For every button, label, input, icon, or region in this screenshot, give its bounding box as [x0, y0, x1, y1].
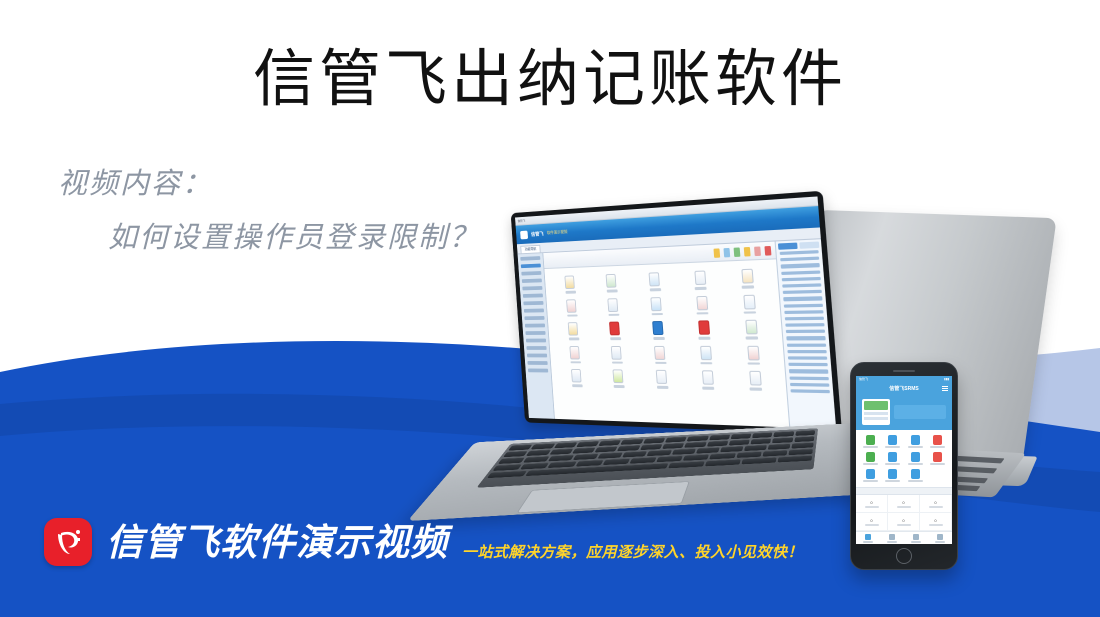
phone-screen: 信管飞 ▮▮▮ 信管飞SRMS	[856, 376, 952, 544]
grid-item[interactable]	[729, 319, 775, 339]
phone-stat-value: 0	[902, 518, 904, 523]
xinguanfei-bird-logo-icon	[44, 518, 92, 566]
grid-item[interactable]	[554, 322, 593, 340]
grid-item[interactable]	[680, 295, 724, 315]
toolbar-key-icon[interactable]	[754, 246, 761, 256]
phone-stat-cell: 0	[888, 513, 920, 531]
grid-item[interactable]	[557, 369, 596, 387]
phone-banner-caption	[894, 405, 946, 419]
phone-stat-cell: 0	[856, 495, 888, 513]
phone-grid-item[interactable]	[860, 469, 881, 482]
grid-item[interactable]	[597, 345, 637, 363]
grid-item[interactable]	[733, 371, 779, 391]
app-tab-navigation[interactable]: 功能导航	[520, 245, 540, 253]
smartphone: 信管飞 ▮▮▮ 信管飞SRMS	[850, 362, 958, 570]
grid-item[interactable]	[678, 270, 722, 290]
phone-grid-item[interactable]	[905, 469, 926, 482]
laptop-lid: 信管飞 信管飞 软件演示视频 功能导航	[511, 191, 843, 435]
toolbar-user-icon[interactable]	[713, 248, 720, 257]
phone-stat-cell: 0	[920, 495, 952, 513]
phone-app-title: 信管飞SRMS	[889, 385, 918, 392]
phone-stat-cell: 0	[888, 495, 920, 513]
grid-item[interactable]	[598, 369, 638, 388]
laptop-keyboard[interactable]	[477, 428, 819, 487]
grid-item[interactable]	[638, 321, 680, 340]
grid-item[interactable]	[682, 320, 726, 339]
phone-promo-banner[interactable]	[856, 394, 952, 430]
app-window-title: 信管飞	[518, 219, 526, 223]
phone-banner-thumbnail	[862, 399, 890, 425]
laptop-screen: 信管飞 信管飞 软件演示视频 功能导航	[515, 196, 836, 429]
slide-canvas: 信管飞出纳记账软件 视频内容： 如何设置操作员登录限制？ 信管飞	[0, 0, 1100, 617]
footer-tagline: 一站式解决方案，应用逐步深入、投入小见效快！	[462, 541, 803, 562]
phone-nav-mine[interactable]	[928, 532, 952, 544]
grid-item[interactable]	[725, 268, 771, 289]
grid-item[interactable]	[595, 321, 635, 339]
right-panel-tab-recent[interactable]	[799, 241, 819, 248]
grid-item[interactable]	[684, 345, 728, 364]
phone-grid-item[interactable]	[883, 452, 904, 465]
grid-item[interactable]	[551, 275, 590, 294]
phone-grid-item[interactable]	[905, 435, 926, 448]
phone-stat-value: 0	[902, 500, 904, 505]
grid-item[interactable]	[636, 296, 678, 315]
grid-item[interactable]	[556, 346, 595, 364]
grid-item[interactable]	[686, 370, 730, 390]
app-logo-icon	[520, 230, 528, 239]
app-body	[518, 239, 837, 429]
footer-brand-name: 信管飞软件演示视频	[106, 524, 448, 561]
toolbar-export-icon[interactable]	[734, 247, 741, 257]
hamburger-icon[interactable]	[942, 386, 948, 391]
phone-function-grid[interactable]	[856, 430, 952, 487]
app-main-panel	[543, 242, 789, 430]
device-showcase: 信管飞 信管飞 软件演示视频 功能导航	[430, 196, 1100, 556]
phone-app-header: 信管飞SRMS	[856, 382, 952, 394]
right-panel-tab-common[interactable]	[778, 243, 798, 250]
phone-bottom-nav[interactable]	[856, 531, 952, 544]
toolbar-print-icon[interactable]	[723, 247, 730, 257]
grid-item[interactable]	[731, 345, 777, 364]
phone-stat-value: 0	[870, 500, 872, 505]
phone-status-icons: ▮▮▮	[944, 377, 949, 381]
phone-grid-item[interactable]	[883, 435, 904, 448]
subtitle-question: 如何设置操作员登录限制？	[108, 214, 480, 256]
phone-nav-report[interactable]	[904, 532, 928, 544]
phone-section-divider	[856, 487, 952, 495]
app-brand-label: 信管飞	[531, 230, 544, 237]
phone-speaker	[893, 370, 915, 372]
phone-nav-business[interactable]	[880, 532, 904, 544]
grid-item[interactable]	[552, 298, 591, 316]
footer-brand-row: 信管飞软件演示视频 一站式解决方案，应用逐步深入、投入小见效快！	[44, 518, 803, 566]
phone-grid-item[interactable]	[860, 452, 881, 465]
phone-stat-value: 0	[934, 518, 936, 523]
open-laptop: 信管飞 信管飞 软件演示视频 功能导航	[430, 196, 900, 526]
grid-item[interactable]	[641, 370, 683, 389]
grid-item[interactable]	[592, 273, 632, 292]
subtitle-block: 视频内容： 如何设置操作员登录限制？	[58, 160, 480, 256]
laptop-trackpad[interactable]	[516, 481, 689, 513]
app-header-tagline: 软件演示视频	[547, 229, 568, 236]
subtitle-label: 视频内容：	[58, 160, 480, 202]
phone-stats-grid: 0 0 0 0 0 0	[856, 495, 952, 531]
phone-stat-cell: 0	[856, 513, 888, 531]
toolbar-lock-icon[interactable]	[744, 246, 751, 256]
grid-item[interactable]	[593, 297, 633, 316]
toolbar-exit-icon[interactable]	[764, 245, 771, 255]
phone-grid-item	[928, 469, 949, 482]
phone-grid-item[interactable]	[928, 435, 949, 448]
phone-home-button[interactable]	[896, 548, 912, 564]
grid-item[interactable]	[727, 294, 773, 314]
grid-item[interactable]	[634, 272, 676, 292]
grid-item[interactable]	[639, 345, 681, 364]
phone-stat-value: 0	[934, 500, 936, 505]
phone-nav-home[interactable]	[856, 532, 880, 544]
page-title: 信管飞出纳记账软件	[0, 46, 1100, 115]
phone-grid-item[interactable]	[928, 452, 949, 465]
app-function-grid[interactable]	[544, 259, 787, 399]
laptop-base	[407, 423, 862, 521]
phone-grid-item[interactable]	[883, 469, 904, 482]
phone-grid-item[interactable]	[860, 435, 881, 448]
phone-grid-item[interactable]	[905, 452, 926, 465]
phone-stat-cell: 0	[920, 513, 952, 531]
phone-status-label: 信管飞	[859, 377, 868, 381]
phone-stat-value: 0	[870, 518, 872, 523]
